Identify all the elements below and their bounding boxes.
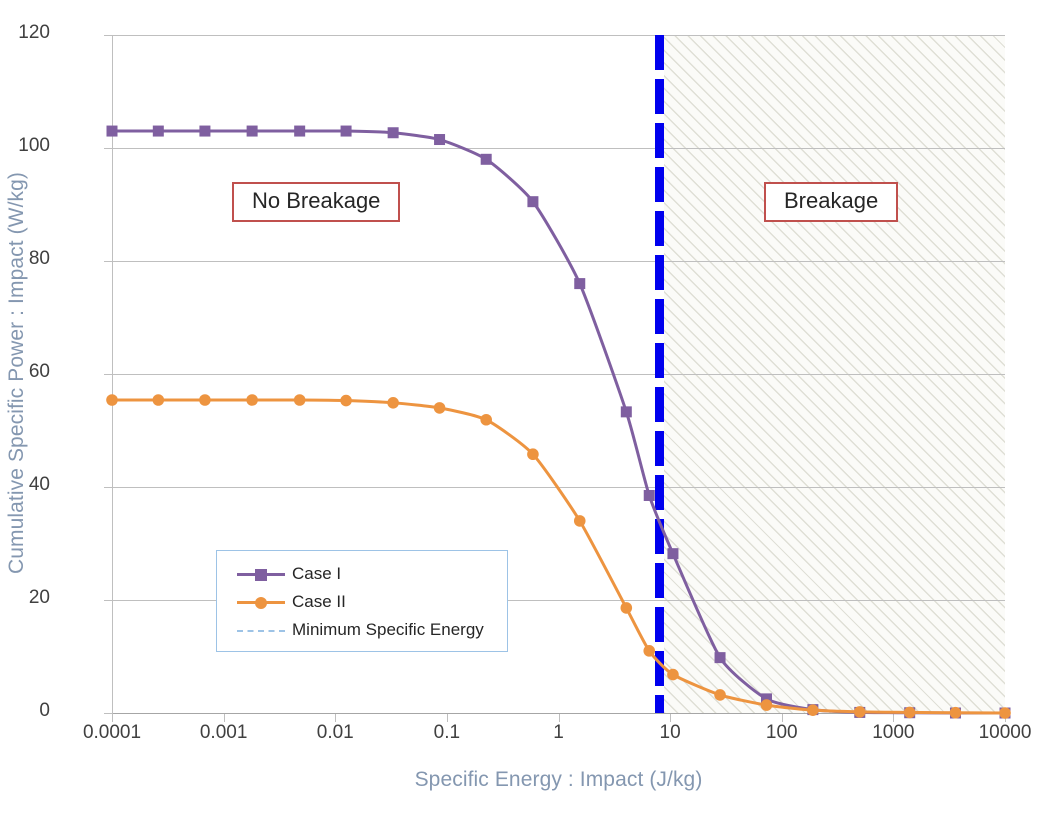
- y-tick-label: 20: [29, 587, 50, 609]
- x-tick-mark: [112, 714, 113, 722]
- gridline-y: [112, 487, 1005, 488]
- legend-label-case-i: Case I: [292, 564, 341, 584]
- x-tick-label: 10000: [925, 722, 1060, 744]
- x-tick-mark: [893, 714, 894, 722]
- legend-item-case-ii: Case II: [217, 588, 507, 616]
- case-ii-line-icon: [237, 594, 285, 610]
- y-tick-label: 80: [29, 248, 50, 270]
- y-tick-mark: [104, 374, 113, 375]
- gridline-y: [112, 35, 1005, 36]
- y-tick-label: 120: [18, 22, 50, 44]
- y-tick-label: 40: [29, 474, 50, 496]
- y-tick-label: 60: [29, 361, 50, 383]
- x-tick-mark: [782, 714, 783, 722]
- x-tick-mark: [559, 714, 560, 722]
- legend-item-minimum-specific-energy: Minimum Specific Energy: [217, 616, 507, 644]
- annotation-no-breakage: No Breakage: [232, 182, 400, 222]
- dashed-line-icon: [237, 622, 285, 638]
- x-tick-mark: [1005, 714, 1006, 722]
- x-tick-mark: [335, 714, 336, 722]
- legend-label-case-ii: Case II: [292, 592, 346, 612]
- y-tick-mark: [104, 600, 113, 601]
- x-axis-title: Specific Energy : Impact (J/kg): [112, 768, 1005, 792]
- x-tick-mark: [447, 714, 448, 722]
- gridline-y: [112, 261, 1005, 262]
- gridline-y: [112, 374, 1005, 375]
- chart-legend: Case I Case II Minimum Specific Energy: [216, 550, 508, 652]
- chart-container: Cumulative Specific Power : Impact (W/kg…: [0, 0, 1060, 824]
- y-tick-mark: [104, 261, 113, 262]
- y-tick-mark: [104, 35, 113, 36]
- legend-item-case-i: Case I: [217, 560, 507, 588]
- y-tick-mark: [104, 487, 113, 488]
- y-tick-label: 100: [18, 135, 50, 157]
- y-tick-label: 0: [39, 700, 50, 722]
- case-i-line-icon: [237, 566, 285, 582]
- legend-label-minimum-specific-energy: Minimum Specific Energy: [292, 620, 484, 640]
- y-tick-mark: [104, 148, 113, 149]
- minimum-specific-energy-line: [655, 35, 664, 713]
- annotation-breakage: Breakage: [764, 182, 898, 222]
- x-tick-mark: [224, 714, 225, 722]
- x-tick-mark: [670, 714, 671, 722]
- gridline-y: [112, 148, 1005, 149]
